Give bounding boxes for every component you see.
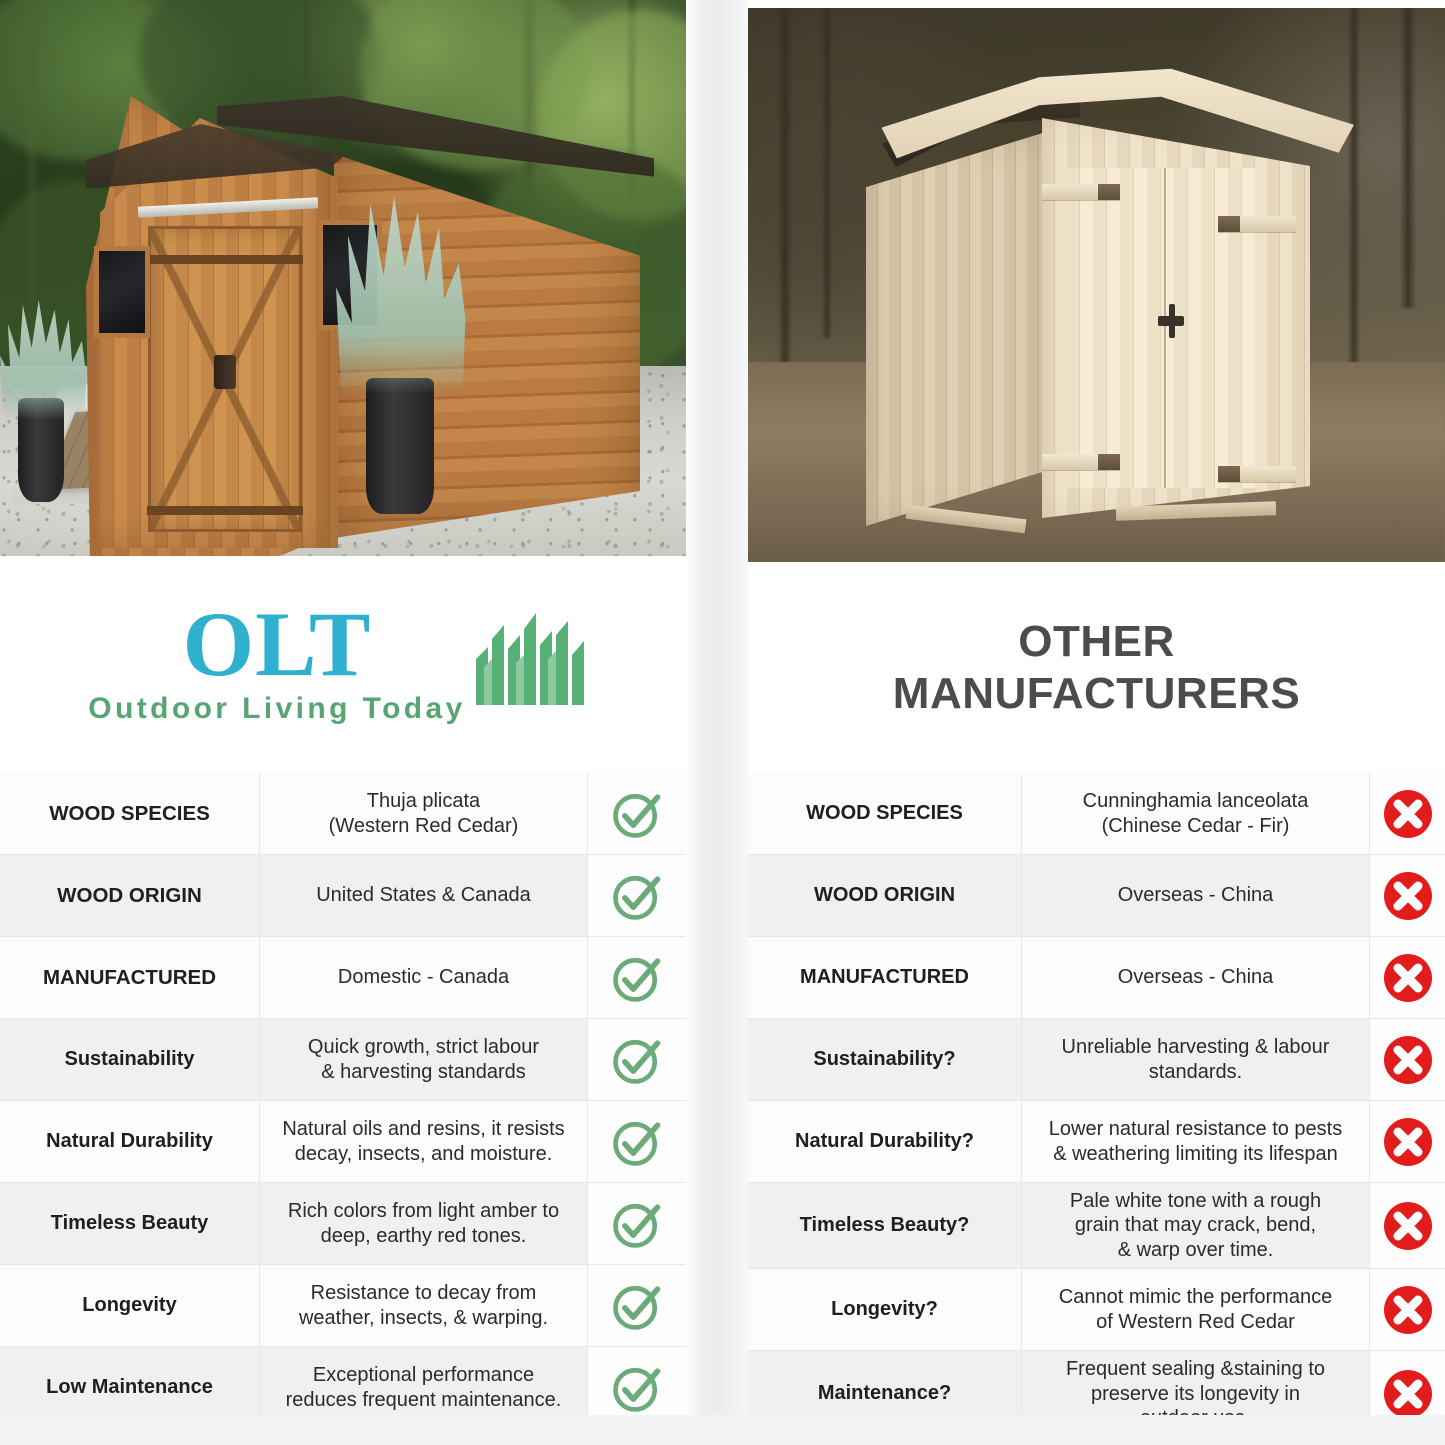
table-row: MANUFACTURED Overseas - China: [748, 937, 1445, 1019]
table-row: Natural Durability? Lower natural resist…: [748, 1101, 1445, 1183]
row-value: Natural oils and resins, it resists deca…: [260, 1101, 588, 1182]
x-circle-icon: [1370, 1269, 1445, 1350]
row-value: Rich colors from light amber to deep, ea…: [260, 1183, 588, 1264]
check-circle-icon: [588, 1183, 686, 1264]
row-label: WOOD SPECIES: [748, 773, 1022, 854]
check-circle-icon: [588, 937, 686, 1018]
shed-window: [94, 246, 150, 338]
pale-shed: [866, 66, 1336, 536]
other-shed-photo: [748, 8, 1445, 562]
olt-logo: OLT Outdoor Living Today: [88, 601, 597, 728]
value-line: Pale white tone with a rough: [1070, 1189, 1321, 1213]
planter-pot: [366, 378, 434, 514]
value-line: & weathering limiting its lifespan: [1049, 1142, 1343, 1166]
row-label: Sustainability: [0, 1019, 260, 1100]
door-hinge-icon: [1042, 454, 1120, 470]
table-row: WOOD ORIGIN Overseas - China: [748, 855, 1445, 937]
table-row: WOOD ORIGIN United States & Canada: [0, 855, 686, 937]
olt-comparison-table: WOOD SPECIES Thuja plicata (Western Red …: [0, 773, 686, 1429]
row-value: Cannot mimic the performance of Western …: [1022, 1269, 1370, 1350]
value-line: Domestic - Canada: [338, 965, 509, 989]
row-label: Timeless Beauty: [0, 1183, 260, 1264]
row-value: Domestic - Canada: [260, 937, 588, 1018]
row-label: Sustainability?: [748, 1019, 1022, 1100]
value-line: Overseas - China: [1118, 883, 1274, 907]
value-line: (Western Red Cedar): [329, 814, 519, 838]
value-line: standards.: [1062, 1060, 1330, 1084]
value-line: Quick growth, strict labour: [308, 1035, 539, 1059]
table-row: Timeless Beauty? Pale white tone with a …: [748, 1183, 1445, 1269]
tree-trunk: [778, 8, 792, 408]
door-latch-icon: [1158, 316, 1184, 326]
table-row: Sustainability? Unreliable harvesting & …: [748, 1019, 1445, 1101]
check-circle-icon: [588, 1019, 686, 1100]
other-comparison-table: WOOD SPECIES Cunninghamia lanceolata (Ch…: [748, 773, 1445, 1437]
value-line: deep, earthy red tones.: [288, 1224, 559, 1248]
row-value: Thuja plicata (Western Red Cedar): [260, 773, 588, 854]
value-line: United States & Canada: [316, 883, 531, 907]
row-label: Longevity: [0, 1265, 260, 1346]
value-line: (Chinese Cedar - Fir): [1083, 814, 1309, 838]
row-label: WOOD ORIGIN: [748, 855, 1022, 936]
value-line: grain that may crack, bend,: [1070, 1213, 1321, 1237]
check-circle-icon: [588, 773, 686, 854]
check-circle-icon: [588, 1101, 686, 1182]
olt-panel: OLT Outdoor Living Today: [0, 0, 686, 1445]
tree-trunk: [1348, 8, 1360, 368]
value-line: decay, insects, and moisture.: [282, 1142, 564, 1166]
row-value: Quick growth, strict labour & harvesting…: [260, 1019, 588, 1100]
olt-shed-photo: [0, 0, 686, 556]
row-label: Longevity?: [748, 1269, 1022, 1350]
value-line: reduces frequent maintenance.: [286, 1388, 562, 1412]
value-line: Cannot mimic the performance: [1059, 1285, 1332, 1309]
value-line: preserve its longevity in: [1066, 1382, 1325, 1406]
shed-side-wall: [866, 132, 1046, 526]
table-row: Longevity Resistance to decay from weath…: [0, 1265, 686, 1347]
row-value: Overseas - China: [1022, 855, 1370, 936]
table-row: MANUFACTURED Domestic - Canada: [0, 937, 686, 1019]
x-circle-icon: [1370, 1183, 1445, 1268]
tree-trunk: [1400, 8, 1416, 308]
door-rail: [147, 255, 303, 264]
row-label: Timeless Beauty?: [748, 1183, 1022, 1268]
row-label: MANUFACTURED: [748, 937, 1022, 1018]
value-line: Cunninghamia lanceolata: [1083, 789, 1309, 813]
row-value: Pale white tone with a rough grain that …: [1022, 1183, 1370, 1268]
x-circle-icon: [1370, 1101, 1445, 1182]
x-circle-icon: [1370, 855, 1445, 936]
row-value: Cunninghamia lanceolata (Chinese Cedar -…: [1022, 773, 1370, 854]
door-hinge-icon: [1218, 216, 1296, 232]
door-hinge-icon: [1218, 466, 1296, 482]
value-line: Overseas - China: [1118, 965, 1274, 989]
value-line: Unreliable harvesting & labour: [1062, 1035, 1330, 1059]
comparison-infographic: OLT Outdoor Living Today: [0, 0, 1445, 1445]
table-row: Sustainability Quick growth, strict labo…: [0, 1019, 686, 1101]
value-line: Rich colors from light amber to: [288, 1199, 559, 1223]
value-line: Resistance to decay from: [299, 1281, 548, 1305]
row-value: United States & Canada: [260, 855, 588, 936]
page-footer-strip: [0, 1415, 1445, 1445]
other-manufacturers-heading: OTHER MANUFACTURERS: [748, 562, 1445, 773]
tree-forest-icon: [470, 605, 598, 728]
value-line: & warp over time.: [1070, 1238, 1321, 1262]
tree-trunk: [822, 8, 832, 338]
value-line: Lower natural resistance to pests: [1049, 1117, 1343, 1141]
table-row: Timeless Beauty Rich colors from light a…: [0, 1183, 686, 1265]
other-manufacturers-panel: OTHER MANUFACTURERS WOOD SPECIES Cunning…: [748, 0, 1445, 1445]
door-rail: [147, 506, 303, 515]
value-line: & harvesting standards: [308, 1060, 539, 1084]
value-line: of Western Red Cedar: [1059, 1310, 1332, 1334]
row-value: Unreliable harvesting & labour standards…: [1022, 1019, 1370, 1100]
value-line: Exceptional performance: [286, 1363, 562, 1387]
value-line: Natural oils and resins, it resists: [282, 1117, 564, 1141]
row-value: Resistance to decay from weather, insect…: [260, 1265, 588, 1346]
table-row: Natural Durability Natural oils and resi…: [0, 1101, 686, 1183]
row-value: Lower natural resistance to pests & weat…: [1022, 1101, 1370, 1182]
olt-tagline: Outdoor Living Today: [88, 692, 465, 726]
table-row: WOOD SPECIES Cunninghamia lanceolata (Ch…: [748, 773, 1445, 855]
row-label: MANUFACTURED: [0, 937, 260, 1018]
row-label: Natural Durability: [0, 1101, 260, 1182]
table-row: WOOD SPECIES Thuja plicata (Western Red …: [0, 773, 686, 855]
heading-line-2: MANUFACTURERS: [893, 668, 1300, 720]
value-line: Thuja plicata: [329, 789, 519, 813]
check-circle-icon: [588, 855, 686, 936]
shed-barn-door: [148, 226, 302, 532]
x-circle-icon: [1370, 773, 1445, 854]
olt-logo-text: OLT Outdoor Living Today: [88, 601, 465, 726]
row-label: WOOD SPECIES: [0, 773, 260, 854]
panel-divider: [686, 0, 748, 1445]
door-handle-icon: [214, 355, 236, 389]
x-circle-icon: [1370, 1019, 1445, 1100]
olt-brand-block: OLT Outdoor Living Today: [0, 556, 686, 773]
heading-line-1: OTHER: [1018, 616, 1175, 668]
row-label: Natural Durability?: [748, 1101, 1022, 1182]
row-label: WOOD ORIGIN: [0, 855, 260, 936]
check-circle-icon: [588, 1265, 686, 1346]
shed-skid: [906, 505, 1027, 534]
row-value: Overseas - China: [1022, 937, 1370, 1018]
value-line: Frequent sealing &staining to: [1066, 1357, 1325, 1381]
olt-wordmark: OLT: [183, 601, 372, 688]
value-line: weather, insects, & warping.: [299, 1306, 548, 1330]
door-hinge-icon: [1042, 184, 1120, 200]
x-circle-icon: [1370, 937, 1445, 1018]
table-row: Longevity? Cannot mimic the performance …: [748, 1269, 1445, 1351]
